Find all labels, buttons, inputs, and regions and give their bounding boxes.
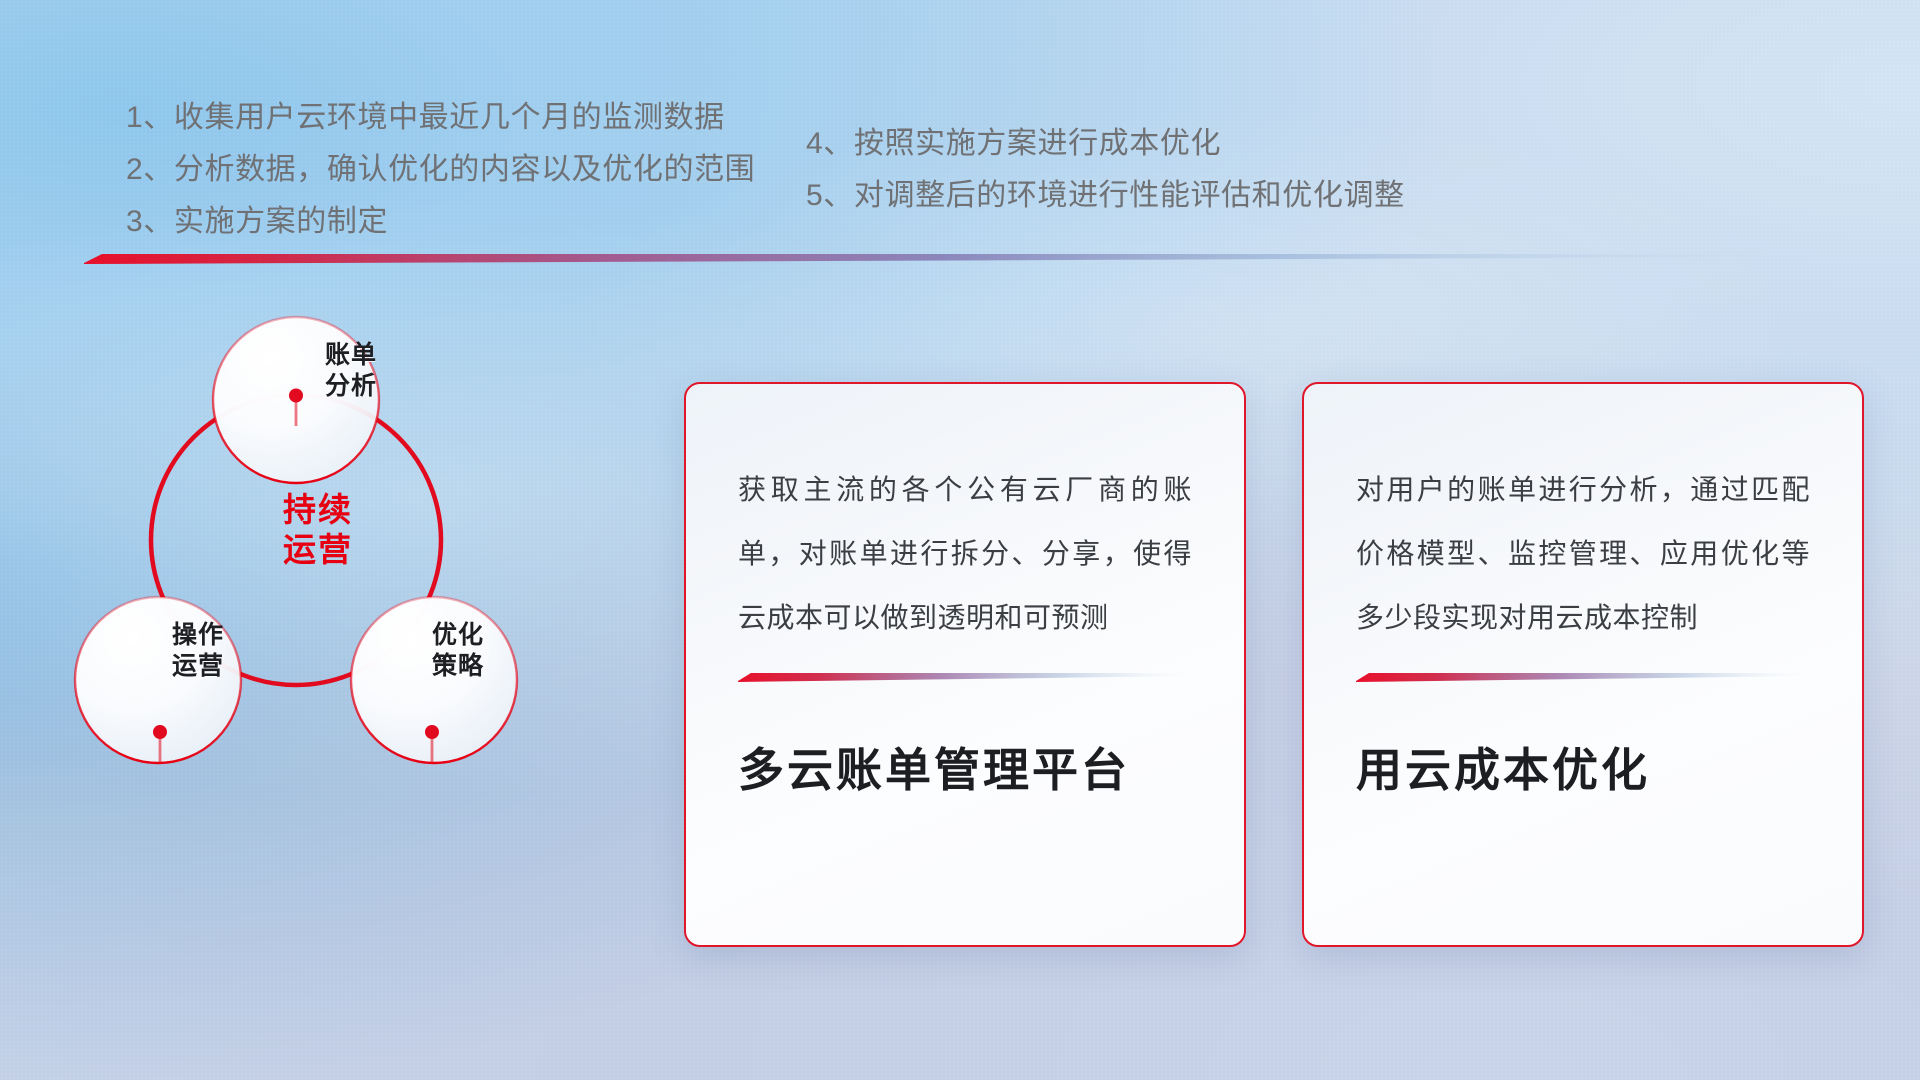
steps-left-column: 1、收集用户云环境中最近几个月的监测数据 2、分析数据，确认优化的内容以及优化的…: [126, 92, 886, 248]
card-title: 用云成本优化: [1356, 734, 1810, 800]
venn-diagram: 账单 分析 操作 运营 优化 策略 持续 运营: [78, 290, 548, 780]
step-item: 3、实施方案的制定: [126, 196, 886, 248]
slide-canvas: 1、收集用户云环境中最近几个月的监测数据 2、分析数据，确认优化的内容以及优化的…: [0, 0, 1920, 1080]
feature-card-list: 获取主流的各个公有云厂商的账单，对账单进行拆分、分享，使得云成本可以做到透明和可…: [684, 382, 1864, 947]
venn-center-label: 持续 运营: [218, 490, 418, 570]
feature-card[interactable]: 对用户的账单进行分析，通过匹配价格模型、监控管理、应用优化等多少段实现对用云成本…: [1302, 382, 1864, 947]
steps-right-column: 4、按照实施方案进行成本优化 5、对调整后的环境进行性能评估和优化调整: [806, 118, 1506, 222]
card-divider: [1356, 672, 1810, 682]
venn-label-bill-analysis: 账单 分析: [261, 340, 441, 402]
card-description: 获取主流的各个公有云厂商的账单，对账单进行拆分、分享，使得云成本可以做到透明和可…: [738, 458, 1192, 650]
step-item: 5、对调整后的环境进行性能评估和优化调整: [806, 170, 1506, 222]
card-divider: [738, 672, 1192, 682]
venn-label-optimization-strategy: 优化 策略: [368, 620, 548, 682]
step-item: 1、收集用户云环境中最近几个月的监测数据: [126, 92, 886, 144]
card-title: 多云账单管理平台: [738, 734, 1192, 800]
card-description: 对用户的账单进行分析，通过匹配价格模型、监控管理、应用优化等多少段实现对用云成本…: [1356, 458, 1810, 650]
venn-label-operations: 操作 运营: [108, 620, 288, 682]
feature-card[interactable]: 获取主流的各个公有云厂商的账单，对账单进行拆分、分享，使得云成本可以做到透明和可…: [684, 382, 1246, 947]
step-item: 4、按照实施方案进行成本优化: [806, 118, 1506, 170]
step-item: 2、分析数据，确认优化的内容以及优化的范围: [126, 144, 886, 196]
section-divider: [84, 252, 1804, 264]
